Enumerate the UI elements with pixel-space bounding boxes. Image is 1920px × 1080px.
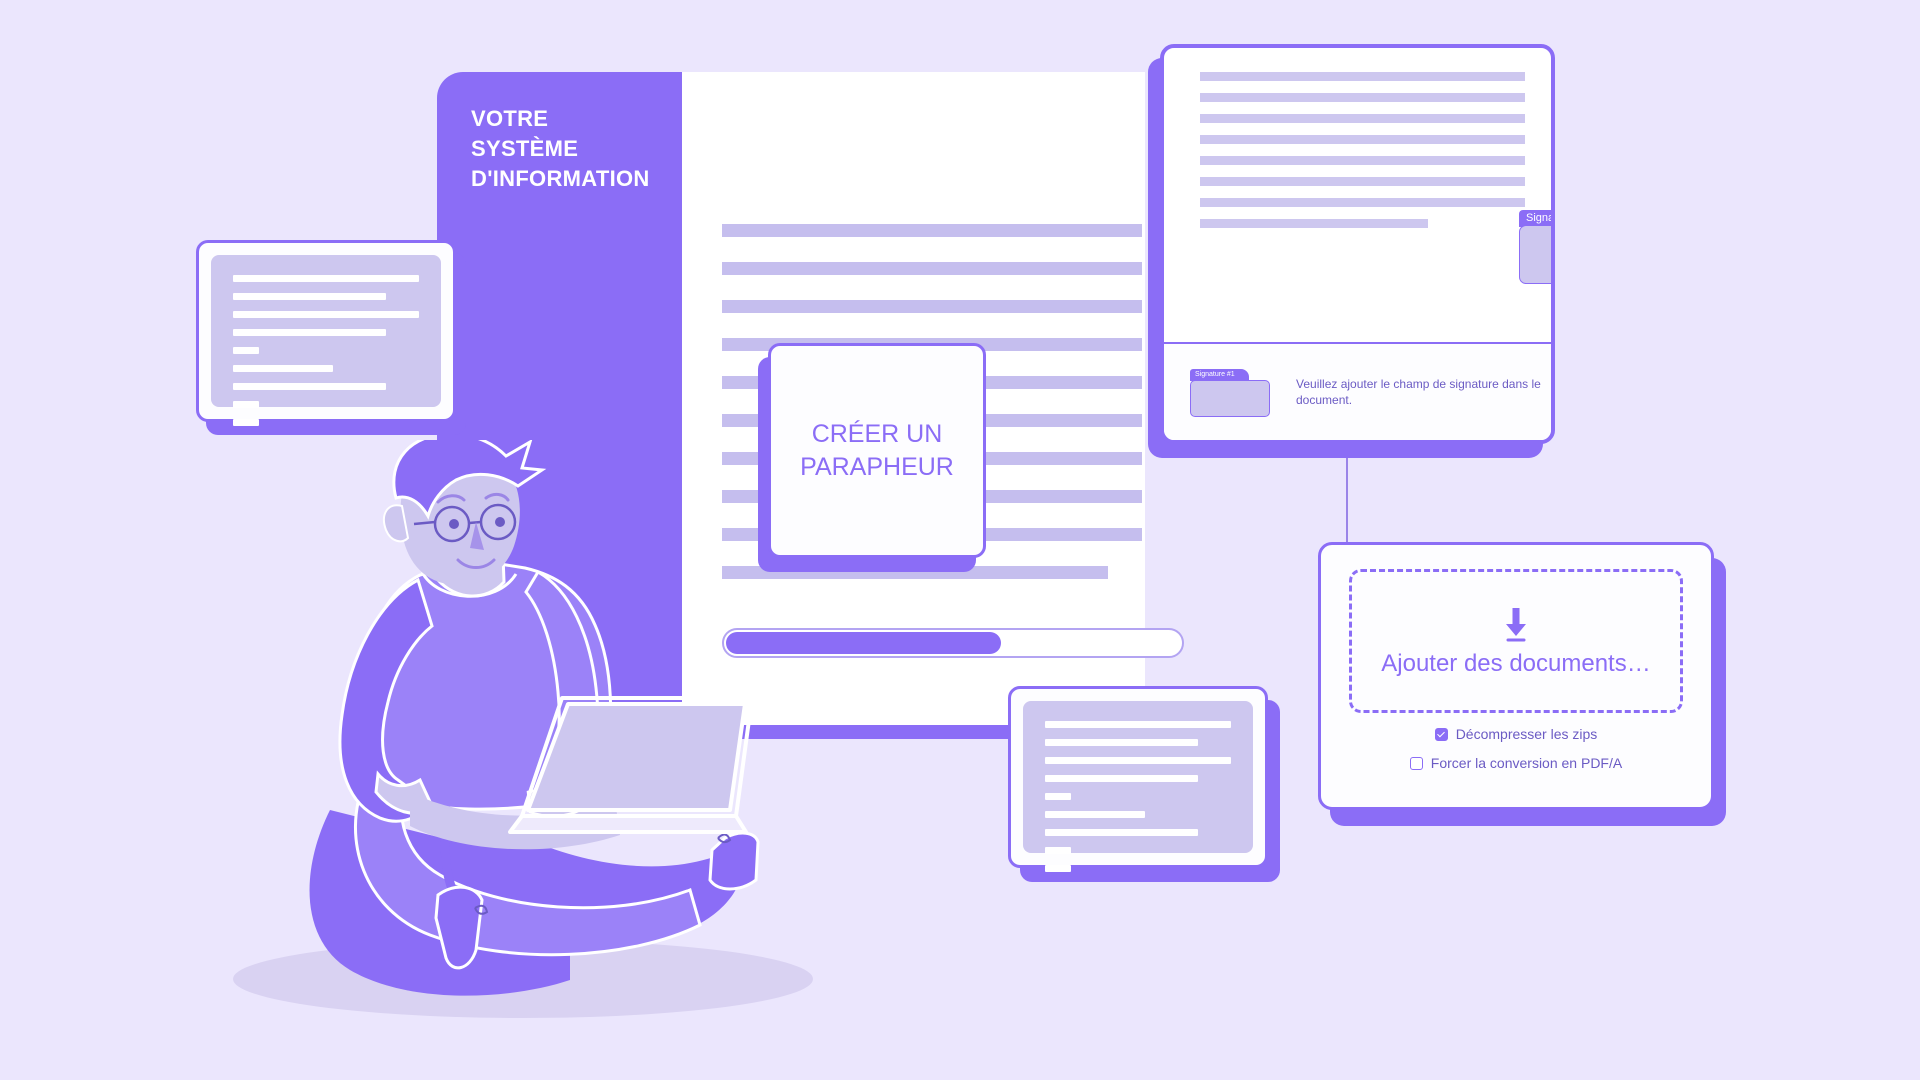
signature-doc-text-line xyxy=(1200,219,1428,228)
signature-mini-box xyxy=(1190,380,1270,417)
signature-doc-text-line xyxy=(1200,156,1525,165)
connector-line xyxy=(1346,458,1348,550)
laptop-base xyxy=(510,816,746,832)
checkbox-unzip-label: Décompresser les zips xyxy=(1456,726,1598,742)
window-text-line xyxy=(233,275,419,282)
person-eye-right xyxy=(495,517,505,527)
bottom-window-body xyxy=(1023,701,1253,853)
signature-doc-text-line xyxy=(1200,93,1525,102)
window-text-line xyxy=(233,311,419,318)
window-text-line xyxy=(233,419,259,426)
bottom-window[interactable] xyxy=(1008,686,1268,868)
signature-doc-text-line xyxy=(1200,198,1525,207)
left-window[interactable] xyxy=(196,240,456,422)
signature-document-panel[interactable]: Signature #1 Signature #1 Veuillez ajout… xyxy=(1160,44,1555,444)
signature-document-text-lines xyxy=(1200,72,1525,240)
window-text-line xyxy=(1045,847,1071,854)
progress-bar[interactable] xyxy=(722,628,1184,658)
window-text-line xyxy=(233,293,386,300)
page-title: VOTRE SYSTÈME D'INFORMATION xyxy=(471,104,681,194)
glasses-bridge xyxy=(469,522,481,523)
checkbox-unzip[interactable] xyxy=(1435,728,1448,741)
person-eye-left xyxy=(449,519,459,529)
dropzone[interactable]: Ajouter des documents… xyxy=(1349,569,1683,713)
laptop-screen xyxy=(528,704,745,810)
laptop-illustration xyxy=(500,690,770,850)
download-arrow-icon xyxy=(1496,604,1536,644)
window-text-line xyxy=(233,383,386,390)
signature-doc-text-line xyxy=(1200,177,1525,186)
signature-panel-footer: Signature #1 Veuillez ajouter le champ d… xyxy=(1164,344,1551,442)
checkbox-pdfa[interactable] xyxy=(1410,757,1423,770)
checkbox-pdfa-label: Forcer la conversion en PDF/A xyxy=(1431,755,1622,771)
option-row-unzip[interactable]: Décompresser les zips xyxy=(1349,726,1683,742)
illustration-canvas: VOTRE SYSTÈME D'INFORMATION CRÉER UN PAR… xyxy=(0,0,1920,1080)
window-text-line xyxy=(233,401,259,408)
window-text-line xyxy=(1045,739,1198,746)
window-text-line xyxy=(1045,829,1198,836)
window-text-line xyxy=(1045,775,1198,782)
window-text-line xyxy=(1045,721,1231,728)
window-text-line xyxy=(233,347,259,354)
window-text-line xyxy=(1045,793,1071,800)
left-window-body xyxy=(211,255,441,407)
document-text-line xyxy=(722,224,1142,237)
create-card-label: CRÉER UN PARAPHEUR xyxy=(800,418,954,484)
option-row-pdfa[interactable]: Forcer la conversion en PDF/A xyxy=(1349,755,1683,771)
dropzone-label: Ajouter des documents… xyxy=(1381,650,1650,678)
window-text-line xyxy=(1045,757,1231,764)
window-text-line xyxy=(233,365,333,372)
signature-field-box[interactable] xyxy=(1519,225,1555,284)
window-text-line xyxy=(1045,811,1145,818)
signature-doc-text-line xyxy=(1200,135,1525,144)
window-text-line xyxy=(233,329,386,336)
signature-doc-text-line xyxy=(1200,72,1525,81)
upload-panel: Ajouter des documents… Décompresser les … xyxy=(1318,542,1714,810)
signature-mini-preview[interactable]: Signature #1 xyxy=(1190,369,1270,417)
window-text-line xyxy=(1045,865,1071,872)
signature-doc-text-line xyxy=(1200,114,1525,123)
document-text-line xyxy=(722,262,1142,275)
signature-hint-text: Veuillez ajouter le champ de signature d… xyxy=(1296,377,1551,408)
signature-field[interactable]: Signature #1 xyxy=(1519,210,1555,284)
document-text-line xyxy=(722,300,1142,313)
create-paraph-card[interactable]: CRÉER UN PARAPHEUR xyxy=(768,343,986,558)
